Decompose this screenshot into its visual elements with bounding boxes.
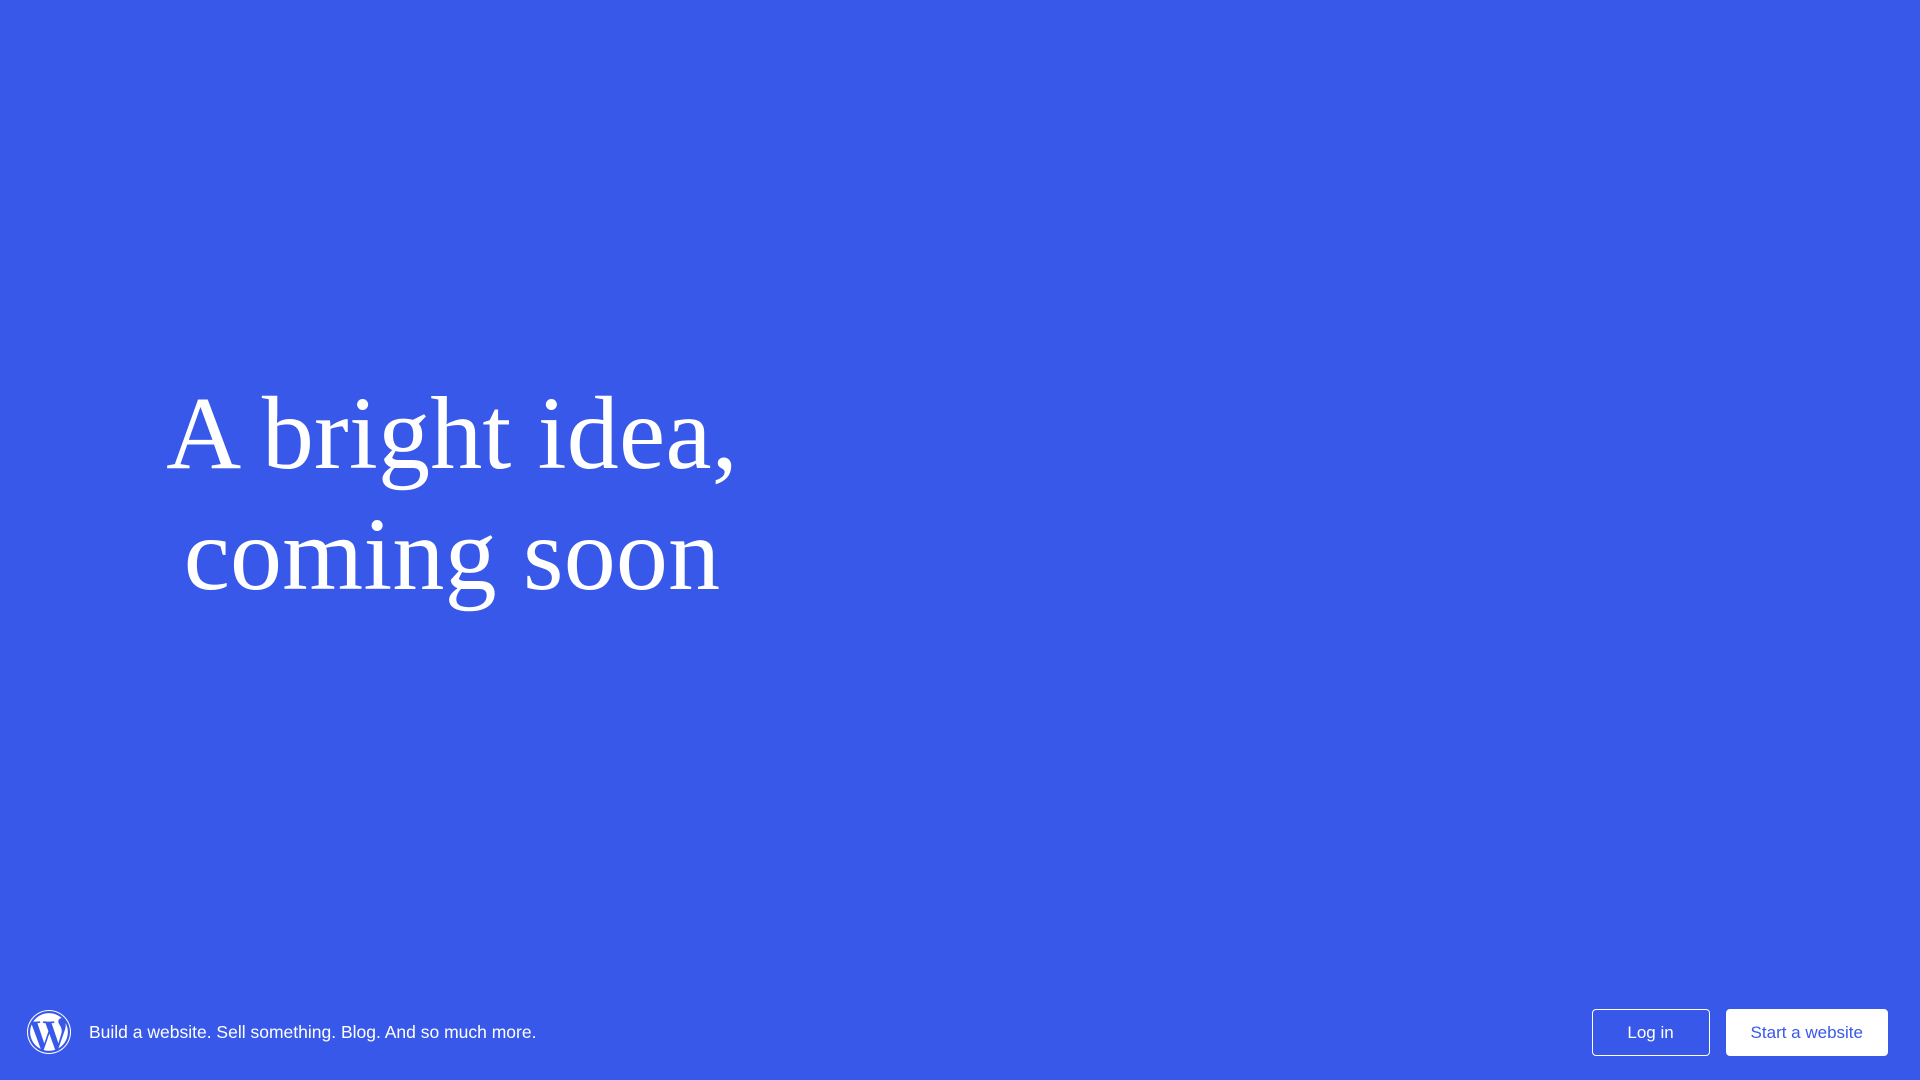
log-in-button[interactable]: Log in xyxy=(1592,1009,1710,1056)
start-a-website-button[interactable]: Start a website xyxy=(1726,1009,1888,1056)
page-title: A bright idea, coming soon xyxy=(0,374,912,615)
hero-content: A bright idea, coming soon xyxy=(0,374,920,615)
wordpress-logo-icon[interactable] xyxy=(27,1010,71,1054)
footer-tagline: Build a website. Sell something. Blog. A… xyxy=(89,1021,536,1044)
footer-branding: Build a website. Sell something. Blog. A… xyxy=(27,1010,1592,1054)
footer-bar: Build a website. Sell something. Blog. A… xyxy=(0,984,1920,1080)
hero-section: A bright idea, coming soon xyxy=(0,0,1920,1080)
coming-soon-page: A bright idea, coming soon Build a websi… xyxy=(0,0,1920,1080)
footer-actions: Log in Start a website xyxy=(1592,1009,1888,1056)
